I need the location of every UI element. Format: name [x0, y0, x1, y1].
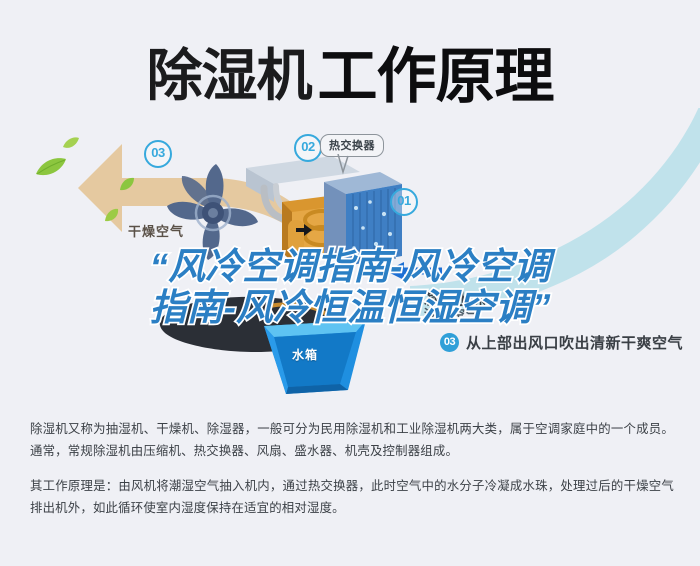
leaf-icon: [118, 176, 136, 192]
leaf-icon: [104, 208, 120, 223]
step-text-03: 从上部出风口吹出清新干爽空气: [466, 332, 683, 353]
callout-pointer-icon: [336, 154, 350, 176]
water-tank-label: 水箱: [292, 346, 318, 363]
step-text-02: 凝成水珠: [424, 288, 486, 309]
step-line-03: 03 从上部出风口吹出清新干爽空气: [440, 332, 683, 353]
leaf-icon: [34, 156, 68, 178]
body-paragraph-2: 其工作原理是：由风机将潮湿空气抽入机内，通过热交换器，此时空气中的水分子冷凝成水…: [30, 475, 674, 519]
infographic-page: 除湿机工作原理 干燥空气 03: [0, 0, 700, 566]
body-paragraph-1: 除湿机又称为抽湿机、干燥机、除湿器，一般可分为民用除湿机和工业除湿机两大类，属于…: [30, 418, 674, 462]
body-copy: 除湿机又称为抽湿机、干燥机、除湿器，一般可分为民用除湿机和工业除湿机两大类，属于…: [30, 418, 674, 519]
page-title-segment-1: 除湿机: [147, 44, 312, 107]
page-title-segment-2: 工作原理: [318, 43, 554, 110]
leaf-icon: [62, 136, 80, 150]
page-title: 除湿机工作原理: [0, 28, 700, 115]
heat-exchanger-callout: 热交换器: [320, 134, 384, 157]
step-line-02: 02 凝成水珠: [398, 288, 486, 309]
step-badge-03: 03: [440, 333, 459, 352]
dehumidifier-diagram: 干燥空气 03: [0, 108, 700, 398]
air-inlet-arrow-icon: [386, 260, 442, 282]
diagram-badge-02: 02: [294, 134, 322, 162]
diagram-badge-01: 01: [390, 188, 418, 216]
